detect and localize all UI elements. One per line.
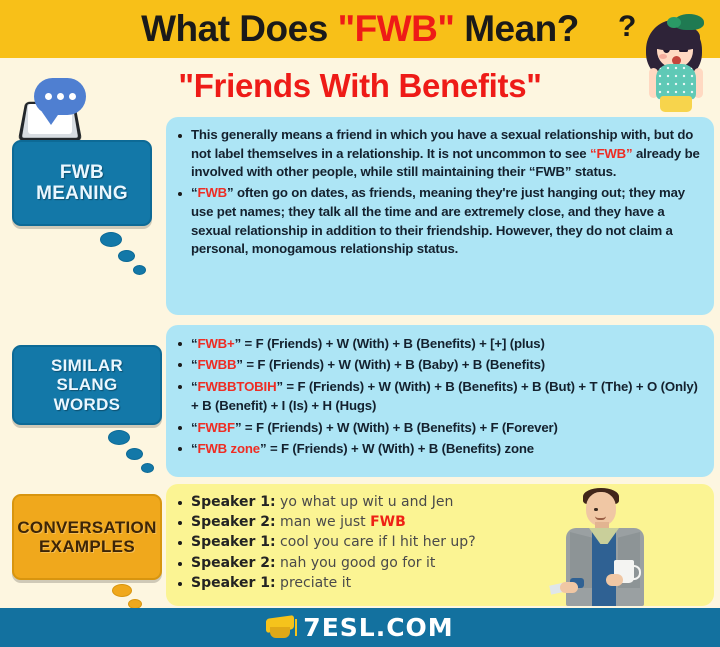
convo-line-1: Speaker 2: man we just FWB [191, 514, 406, 530]
speaker-line: yo what up wit u and Jen [276, 494, 454, 510]
highlight-text: FWB zone [197, 441, 260, 456]
highlight-text: FWB [197, 185, 227, 200]
highlight-text: FWBF [197, 420, 234, 435]
list-item: This generally means a friend in which y… [176, 126, 702, 182]
slang-text-2: “FWBBTOBIH” = F (Friends) + W (With) + B… [191, 379, 698, 413]
label-conversation-text: CONVERSATION EXAMPLES [11, 518, 162, 556]
plain-text: ” = F (Friends) + W (With) + B (Benefits… [260, 441, 534, 456]
speaker-label: Speaker 1: [191, 494, 276, 510]
speaker-line: nah you good go for it [276, 555, 436, 571]
cap-tassel-shape [295, 619, 298, 636]
speaker-line: preciate it [276, 575, 352, 591]
slang-text-0: “FWB+” = F (Friends) + W (With) + B (Ben… [191, 336, 545, 351]
tail-fwb-meaning [100, 232, 160, 282]
similar-slang-list: “FWB+” = F (Friends) + W (With) + B (Ben… [176, 334, 702, 458]
convo-line-2: Speaker 1: cool you care if I hit her up… [191, 534, 476, 550]
man-smile-icon [595, 516, 606, 520]
fwb-meaning-list: This generally means a friend in which y… [176, 126, 702, 259]
title-accent: "FWB" [338, 8, 455, 49]
girl-skirt [660, 96, 692, 112]
speaker-line: man we just [276, 514, 371, 530]
highlight-text: “FWB” [590, 146, 632, 161]
girl-cheek [659, 54, 667, 59]
bullet-text-1: “FWB” often go on dates, as friends, mea… [191, 185, 685, 256]
page-subtitle: "Friends With Benefits" [178, 67, 541, 105]
label-line2: EXAMPLES [39, 537, 135, 556]
speaker-label: Speaker 2: [191, 555, 276, 571]
convo-line-3: Speaker 2: nah you good go for it [191, 555, 435, 571]
man-eye-icon [594, 508, 598, 511]
title-bar: What Does "FWB" Mean? [0, 0, 720, 58]
convo-line-0: Speaker 1: yo what up wit u and Jen [191, 494, 453, 510]
highlight-text: FWBB [197, 357, 236, 372]
label-fwb-meaning-text: FWB MEANING [30, 162, 134, 205]
bubble-dots-icon [34, 78, 86, 115]
graduation-cap-icon [266, 616, 296, 640]
man-hand-left [560, 582, 578, 593]
man-with-coffee-illustration [556, 486, 660, 614]
panel-fwb-meaning: This generally means a friend in which y… [166, 117, 714, 315]
title-prefix: What Does [141, 8, 337, 49]
list-item: “FWB” often go on dates, as friends, mea… [176, 184, 702, 259]
page-title: What Does "FWB" Mean? [141, 8, 579, 50]
speaker-label: Speaker 2: [191, 514, 276, 530]
label-fwb-meaning[interactable]: FWB MEANING [12, 140, 152, 226]
highlight-text: FWB+ [197, 336, 234, 351]
chat-bubble-icon [34, 78, 86, 115]
list-item: “FWBBTOBIH” = F (Friends) + W (With) + B… [176, 377, 702, 416]
plain-text: ” often go on dates, as friends, meaning… [191, 185, 685, 256]
slang-text-1: “FWBB” = F (Friends) + W (With) + B (Bab… [191, 357, 545, 372]
tail-similar-slang [108, 430, 168, 480]
label-line1: CONVERSATION [17, 518, 156, 537]
slang-text-4: “FWB zone” = F (Friends) + W (With) + B … [191, 441, 534, 456]
footer-bar: 7ESL.COM [0, 608, 720, 647]
plain-text: ” = F (Friends) + W (With) + B (Benefits… [235, 336, 545, 351]
list-item: “FWB zone” = F (Friends) + W (With) + B … [176, 439, 702, 458]
subtitle-bar: "Friends With Benefits" [0, 58, 720, 113]
convo-line-4: Speaker 1: preciate it [191, 575, 351, 591]
girl-top-dots [656, 64, 696, 100]
speaker-label: Speaker 1: [191, 534, 276, 550]
speaker-line: cool you care if I hit her up? [276, 534, 476, 550]
speaker-label: Speaker 1: [191, 575, 276, 591]
winking-girl-illustration: ? [636, 6, 716, 114]
slang-text-3: “FWBF” = F (Friends) + W (With) + B (Ben… [191, 420, 558, 435]
speech-bubble-phone-icon [16, 78, 94, 140]
infographic-page: What Does "FWB" Mean? "Friends With Bene… [0, 0, 720, 647]
label-line1: FWB [60, 162, 104, 183]
panel-similar-slang: “FWB+” = F (Friends) + W (With) + B (Ben… [166, 325, 714, 477]
girl-bow-icon [674, 14, 704, 30]
label-similar-slang-text: SIMILAR SLANG WORDS [14, 356, 160, 413]
list-item: “FWBF” = F (Friends) + W (With) + B (Ben… [176, 418, 702, 437]
plain-text: ” = F (Friends) + W (With) + B (Benefits… [235, 420, 558, 435]
label-line1: SIMILAR SLANG [51, 356, 123, 394]
label-conversation-examples[interactable]: CONVERSATION EXAMPLES [12, 494, 162, 580]
highlight-text: FWBBTOBIH [197, 379, 276, 394]
question-mark-icon: ? [618, 10, 636, 44]
label-similar-slang[interactable]: SIMILAR SLANG WORDS [12, 345, 162, 425]
man-hand-right [606, 574, 623, 586]
man-head [586, 492, 616, 526]
label-line2: WORDS [54, 395, 121, 414]
cap-base-shape [270, 627, 290, 638]
brand-name: 7ESL.COM [303, 613, 453, 642]
girl-top [656, 64, 696, 100]
label-line2: MEANING [36, 183, 128, 204]
bullet-text-0: This generally means a friend in which y… [191, 127, 700, 179]
list-item: “FWB+” = F (Friends) + W (With) + B (Ben… [176, 334, 702, 353]
title-suffix: Mean? [454, 8, 578, 49]
highlight-text: FWB [370, 514, 406, 530]
plain-text: ” = F (Friends) + W (With) + B (Baby) + … [236, 357, 545, 372]
list-item: “FWBB” = F (Friends) + W (With) + B (Bab… [176, 355, 702, 374]
